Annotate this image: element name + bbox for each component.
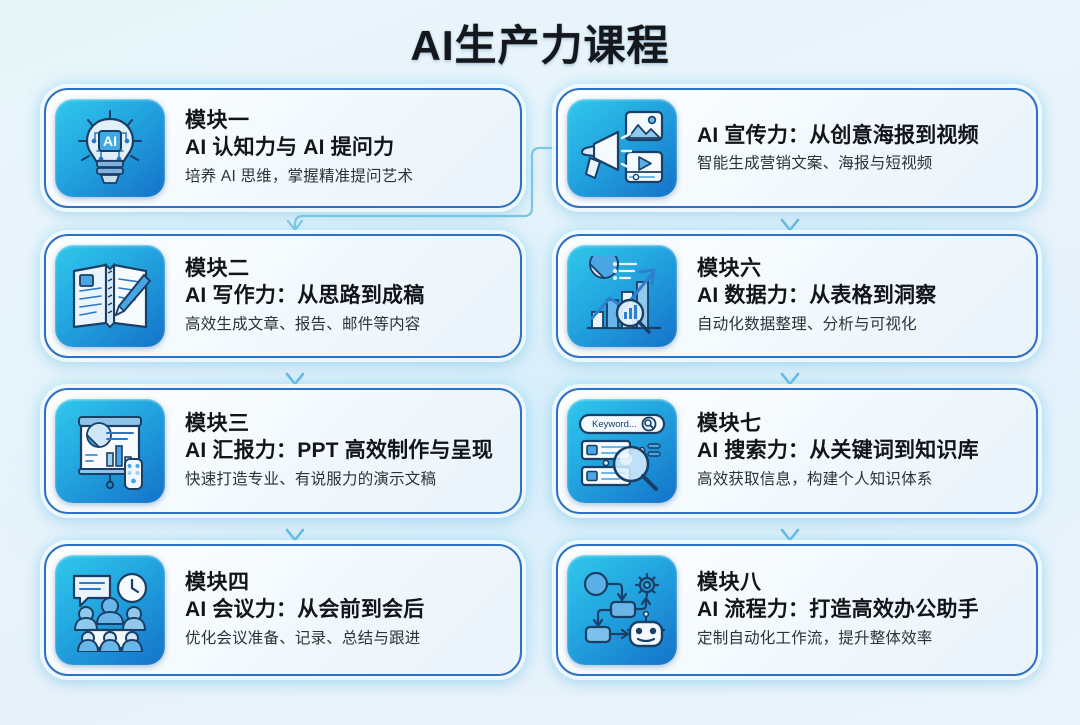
link-module6-to-module7: [782, 358, 798, 384]
module-card-1[interactable]: AI 模块一 AI 认知力与 AI 提问力 培养 AI 思维，掌握精准提问艺术: [44, 88, 522, 208]
module-label: 模块八: [697, 570, 1013, 596]
module-description: 培养 AI 思维，掌握精准提问艺术: [185, 167, 497, 188]
module-description: 优化会议准备、记录、总结与跟进: [185, 629, 497, 650]
module-card-4[interactable]: 模块四 AI 会议力：从会前到会后 优化会议准备、记录、总结与跟进: [44, 544, 522, 676]
module-label: 模块二: [185, 256, 497, 282]
module-card-7-text: 模块七 AI 搜索力：从关键词到知识库 高效获取信息，构建个人知识体系: [677, 411, 1027, 491]
module-card-7[interactable]: Keyword...: [556, 388, 1038, 514]
arrow-head-icon: [288, 221, 302, 230]
module-card-8-text: 模块八 AI 流程力：打造高效办公助手 定制自动化工作流，提升整体效率: [677, 570, 1027, 650]
module-title: AI 数据力：从表格到洞察: [697, 283, 1013, 310]
module-title: AI 会议力：从会前到会后: [185, 597, 497, 624]
module-title: AI 宣传力：从创意海报到视频: [697, 123, 1013, 150]
module-description: 高效获取信息，构建个人知识体系: [697, 470, 1013, 491]
svg-text:AI: AI: [103, 133, 117, 149]
link-module2-to-module3: [287, 358, 303, 384]
arrow-head-icon: [287, 374, 303, 384]
page-title: AI生产力课程: [410, 12, 669, 73]
module-card-1-text: 模块一 AI 认知力与 AI 提问力 培养 AI 思维，掌握精准提问艺术: [165, 108, 511, 188]
arrow-head-icon: [287, 530, 303, 540]
arrow-head-icon: [782, 530, 798, 540]
lightbulb-ai-icon: AI: [55, 99, 165, 197]
module-label: 模块三: [185, 411, 497, 437]
module-label: 模块六: [697, 256, 1013, 282]
module-description: 智能生成营销文案、海报与短视频: [697, 154, 1013, 175]
module-title: AI 认知力与 AI 提问力: [185, 135, 497, 162]
module-label: 模块七: [697, 411, 1013, 437]
presentation-screen-icon: [55, 399, 165, 503]
search-knowledge-base-icon: Keyword...: [567, 399, 677, 503]
module-card-6[interactable]: 模块六 AI 数据力：从表格到洞察 自动化数据整理、分析与可视化: [556, 234, 1038, 358]
module-card-4-text: 模块四 AI 会议力：从会前到会后 优化会议准备、记录、总结与跟进: [165, 570, 511, 650]
module-description: 高效生成文章、报告、邮件等内容: [185, 315, 497, 336]
module-title: AI 搜索力：从关键词到知识库: [697, 438, 1013, 465]
open-book-pen-icon: [55, 245, 165, 347]
chart-growth-magnifier-icon: [567, 245, 677, 347]
module-label: 模块四: [185, 570, 497, 596]
meeting-people-clock-icon: [55, 555, 165, 665]
module-title: AI 汇报力：PPT 高效制作与呈现: [185, 438, 497, 465]
keyword-placeholder-text: Keyword...: [592, 419, 637, 430]
infographic-canvas: AI生产力课程: [0, 0, 1080, 725]
link-module7-to-module8: [782, 514, 798, 540]
module-card-5-text: AI 宣传力：从创意海报到视频 智能生成营销文案、海报与短视频: [677, 121, 1027, 176]
page-title-wrapper: AI生产力课程: [0, 12, 1080, 73]
module-card-5[interactable]: AI 宣传力：从创意海报到视频 智能生成营销文案、海报与短视频: [556, 88, 1038, 208]
module-description: 定制自动化工作流，提升整体效率: [697, 629, 1013, 650]
workflow-robot-icon: [567, 555, 677, 665]
megaphone-image-video-icon: [567, 99, 677, 197]
module-card-8[interactable]: 模块八 AI 流程力：打造高效办公助手 定制自动化工作流，提升整体效率: [556, 544, 1038, 676]
module-card-3-text: 模块三 AI 汇报力：PPT 高效制作与呈现 快速打造专业、有说服力的演示文稿: [165, 411, 511, 491]
link-module3-to-module4: [287, 514, 303, 540]
module-title: AI 写作力：从思路到成稿: [185, 283, 497, 310]
arrow-head-icon: [782, 374, 798, 384]
module-title: AI 流程力：打造高效办公助手: [697, 597, 1013, 624]
module-card-6-text: 模块六 AI 数据力：从表格到洞察 自动化数据整理、分析与可视化: [677, 256, 1027, 336]
arrow-head-icon: [782, 220, 798, 230]
module-label: 模块一: [185, 108, 497, 134]
module-card-3[interactable]: 模块三 AI 汇报力：PPT 高效制作与呈现 快速打造专业、有说服力的演示文稿: [44, 388, 522, 514]
link-module5-to-module6: [782, 208, 798, 230]
module-card-2-text: 模块二 AI 写作力：从思路到成稿 高效生成文章、报告、邮件等内容: [165, 256, 511, 336]
module-description: 自动化数据整理、分析与可视化: [697, 315, 1013, 336]
module-card-2[interactable]: 模块二 AI 写作力：从思路到成稿 高效生成文章、报告、邮件等内容: [44, 234, 522, 358]
module-description: 快速打造专业、有说服力的演示文稿: [185, 470, 497, 491]
